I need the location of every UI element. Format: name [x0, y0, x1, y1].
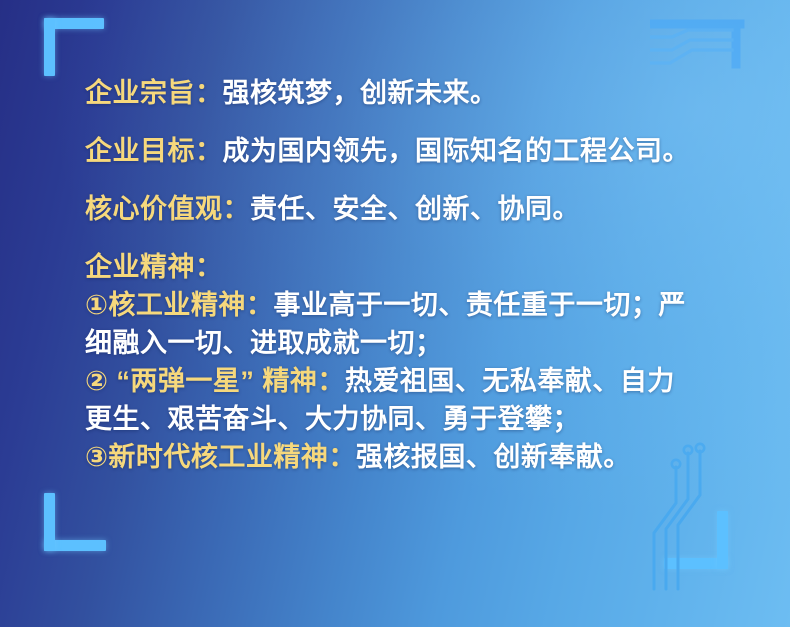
culture-spirit-item-3-line-1: ③新时代核工业精神：强核报国、创新奉献。 — [85, 438, 730, 476]
culture-spirit-section: 企业精神： ①核工业精神：事业高于一切、责任重于一切；严 细融入一切、进取成就一… — [85, 248, 730, 476]
culture-spirit-heading: 企业精神： — [85, 248, 730, 286]
culture-spirit-item-2-label: ② “两弹一星” 精神： — [85, 366, 345, 396]
culture-spirit-item-1-line-1: ①核工业精神：事业高于一切、责任重于一切；严 — [85, 286, 730, 324]
bracket-arm-horizontal — [44, 540, 106, 551]
corner-bracket-top-left-icon — [44, 18, 104, 76]
culture-spirit-item-3-text-1: 强核报国、创新奉献。 — [356, 442, 631, 472]
bracket-arm-vertical — [44, 493, 55, 551]
culture-goal-value: 成为国内领先，国际知名的工程公司。 — [223, 136, 691, 166]
culture-goal-line: 企业目标：成为国内领先，国际知名的工程公司。 — [85, 132, 730, 170]
culture-purpose-line: 企业宗旨：强核筑梦，创新未来。 — [85, 74, 730, 112]
culture-text-block: 企业宗旨：强核筑梦，创新未来。 企业目标：成为国内领先，国际知名的工程公司。 核… — [85, 74, 730, 476]
culture-spirit-item-1-line-2: 细融入一切、进取成就一切； — [85, 324, 730, 362]
culture-spirit-item-1-text-1: 事业高于一切、责任重于一切；严 — [273, 290, 686, 320]
culture-spirit-item-1-label: ①核工业精神： — [85, 290, 273, 320]
culture-goal-label: 企业目标： — [85, 136, 223, 166]
bracket-arm-horizontal — [44, 18, 104, 29]
culture-spirit-item-2-line-1: ② “两弹一星” 精神：热爱祖国、无私奉献、自力 — [85, 362, 730, 400]
bracket-arm-vertical — [717, 511, 728, 569]
culture-core-values-value: 责任、安全、创新、协同。 — [250, 194, 580, 224]
culture-core-values-label: 核心价值观： — [85, 194, 250, 224]
culture-spirit-item-3-label: ③新时代核工业精神： — [85, 442, 356, 472]
circuit-trace-top-right-icon — [650, 6, 790, 78]
culture-spirit-item-2-text-1: 热爱祖国、无私奉献、自力 — [345, 366, 675, 396]
culture-spirit-item-2-line-2: 更生、艰苦奋斗、大力协同、勇于登攀； — [85, 400, 730, 438]
culture-core-values-line: 核心价值观：责任、安全、创新、协同。 — [85, 190, 730, 228]
culture-purpose-label: 企业宗旨： — [85, 78, 223, 108]
bracket-arm-horizontal — [664, 558, 728, 569]
culture-poster: 企业宗旨：强核筑梦，创新未来。 企业目标：成为国内领先，国际知名的工程公司。 核… — [0, 0, 790, 627]
corner-bracket-bottom-right-icon — [664, 511, 728, 569]
bracket-arm-vertical — [44, 18, 55, 76]
corner-bracket-bottom-left-icon — [44, 493, 106, 551]
culture-purpose-value: 强核筑梦，创新未来。 — [223, 78, 498, 108]
